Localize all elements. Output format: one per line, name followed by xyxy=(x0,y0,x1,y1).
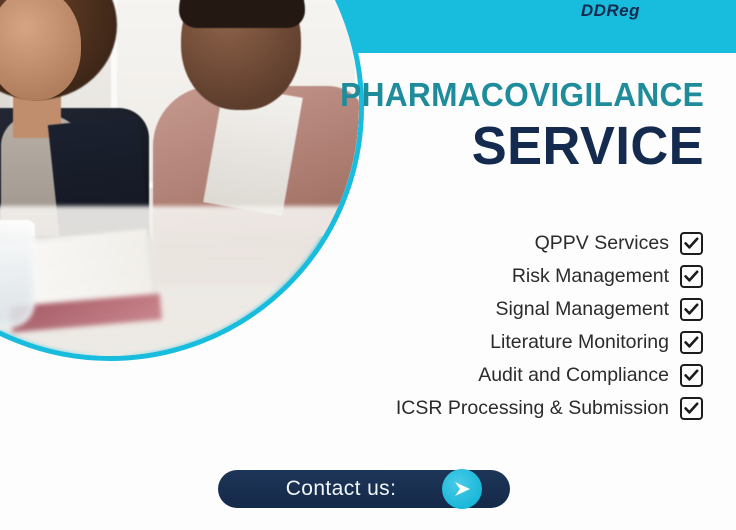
list-item-label: Audit and Compliance xyxy=(478,366,669,386)
photo-man-hair xyxy=(179,0,305,28)
checkbox-checked-icon[interactable] xyxy=(680,364,703,387)
list-item-label: Risk Management xyxy=(512,267,669,287)
list-item: Signal Management xyxy=(496,298,703,321)
checkbox-checked-icon[interactable] xyxy=(680,331,703,354)
brand-logo: DDReg xyxy=(581,1,640,21)
checkbox-checked-icon[interactable] xyxy=(680,298,703,321)
list-item: QPPV Services xyxy=(535,232,703,255)
list-item: Literature Monitoring xyxy=(490,331,703,354)
checkbox-checked-icon[interactable] xyxy=(680,232,703,255)
arrow-right-play-icon[interactable] xyxy=(442,469,482,509)
contact-us-label: Contact us: xyxy=(286,477,397,501)
list-item-label: Signal Management xyxy=(496,300,669,320)
list-item: ICSR Processing & Submission xyxy=(396,397,703,420)
services-checklist: QPPV Services Risk Management Signal Man… xyxy=(396,232,703,420)
hero-photo xyxy=(0,0,359,356)
checkbox-checked-icon[interactable] xyxy=(680,397,703,420)
hero-photo-circle xyxy=(0,0,364,361)
checkbox-checked-icon[interactable] xyxy=(680,265,703,288)
header-band xyxy=(300,0,736,53)
list-item-label: QPPV Services xyxy=(535,234,669,254)
headline-block: PHARMACOVIGILANCE SERVICE xyxy=(325,78,704,173)
poster-canvas: DDReg PHARMACOVIGILANCE SERVICE xyxy=(0,0,736,530)
contact-us-button[interactable]: Contact us: xyxy=(218,470,510,508)
list-item: Audit and Compliance xyxy=(478,364,703,387)
list-item-label: Literature Monitoring xyxy=(490,333,669,353)
list-item-label: ICSR Processing & Submission xyxy=(396,399,669,419)
photo-woman-head xyxy=(0,0,81,100)
list-item: Risk Management xyxy=(512,265,703,288)
photo-foreground-blur xyxy=(0,236,359,356)
headline-secondary: SERVICE xyxy=(336,119,704,173)
headline-primary: PHARMACOVIGILANCE xyxy=(340,78,704,111)
